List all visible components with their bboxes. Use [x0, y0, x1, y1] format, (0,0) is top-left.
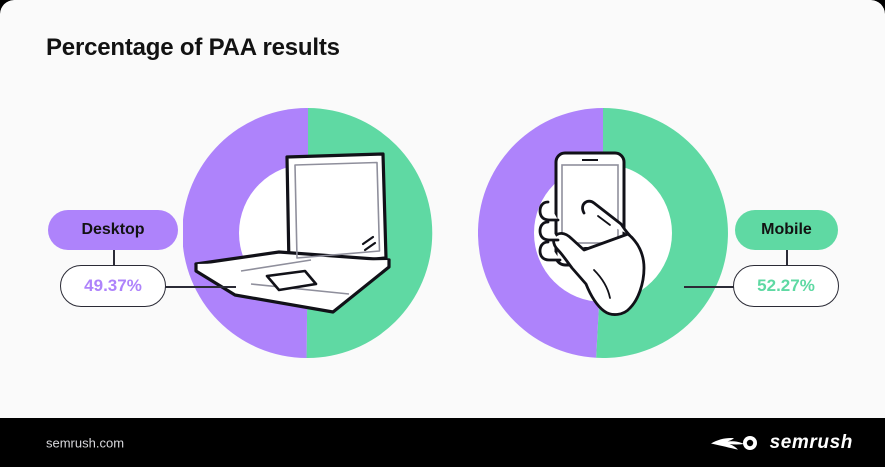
semrush-logo: semrush [711, 432, 853, 454]
mobile-value-text: 52.27% [757, 276, 815, 296]
hand-holding-phone-icon [478, 108, 728, 358]
content-card: Percentage of PAA results [0, 0, 885, 418]
laptop-icon [183, 108, 433, 358]
footer-url: semrush.com [46, 435, 124, 450]
desktop-label-text: Desktop [81, 221, 144, 239]
semrush-wordmark: semrush [770, 432, 853, 454]
desktop-connector-line [160, 286, 236, 288]
mobile-value-pill: 52.27% [733, 265, 839, 307]
footer-bar: semrush.com semrush [0, 418, 885, 467]
desktop-donut-chart [183, 108, 433, 358]
infographic-card: Percentage of PAA results [0, 0, 885, 467]
logo-inner-dot [746, 439, 752, 445]
desktop-label-pill: Desktop [48, 210, 178, 250]
mobile-label-text: Mobile [761, 221, 812, 239]
mobile-donut-chart [478, 108, 728, 358]
desktop-value-pill: 49.37% [60, 265, 166, 307]
semrush-comet-icon [711, 432, 761, 454]
page-title: Percentage of PAA results [46, 34, 340, 62]
desktop-value-text: 49.37% [84, 276, 142, 296]
mobile-label-pill: Mobile [735, 210, 838, 250]
